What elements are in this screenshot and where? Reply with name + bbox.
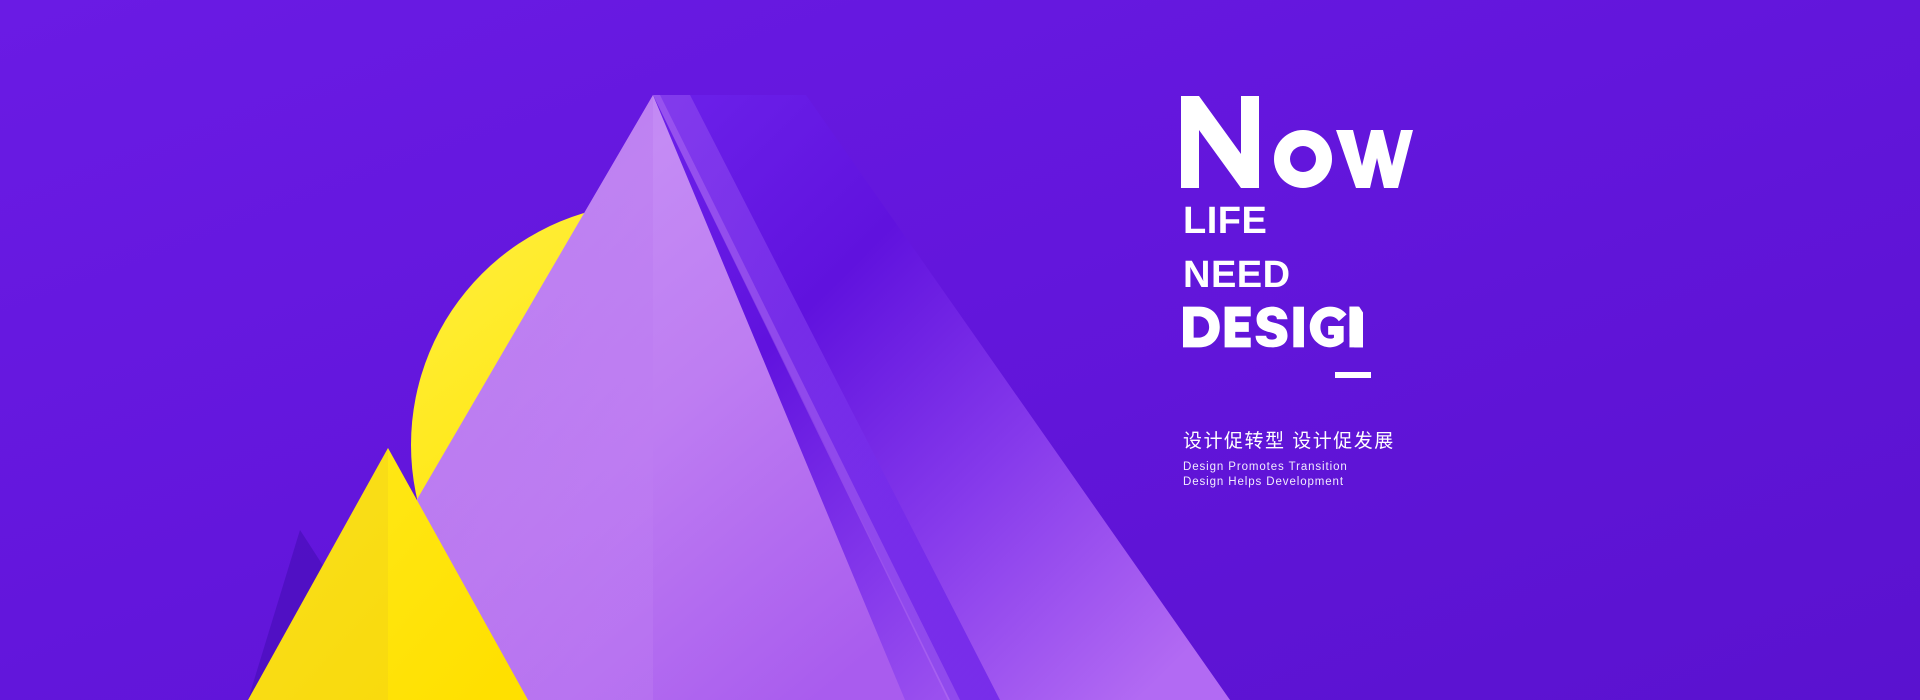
design-letter-d [1183,307,1220,348]
slogan-line-design [1183,306,1363,348]
slogan-line-life: LIFE [1183,194,1523,248]
slogan-line-need: NEED [1183,248,1523,302]
design-letter-i [1293,307,1304,348]
design-letter-s [1256,307,1288,348]
design-letter-g [1310,307,1347,348]
hero-banner: LIFE NEED 设计促转型 设计促发展 Design Promotes Tr… [0,0,1920,700]
design-letter-e [1225,307,1251,348]
headline-now [1181,96,1413,188]
subtitle-english-line-2: Design Helps Development [1183,475,1523,490]
subtitle-chinese: 设计促转型 设计促发展 [1183,429,1523,455]
abstract-geometric-artwork [0,0,1920,700]
headline-letter-w [1336,130,1413,188]
headline-letter-o [1274,130,1332,188]
headline-letter-n [1181,96,1259,188]
headline-text-block: LIFE NEED 设计促转型 设计促发展 Design Promotes Tr… [1183,96,1523,490]
subtitle-english-line-1: Design Promotes Transition [1183,460,1523,475]
accent-rule [1335,372,1371,378]
